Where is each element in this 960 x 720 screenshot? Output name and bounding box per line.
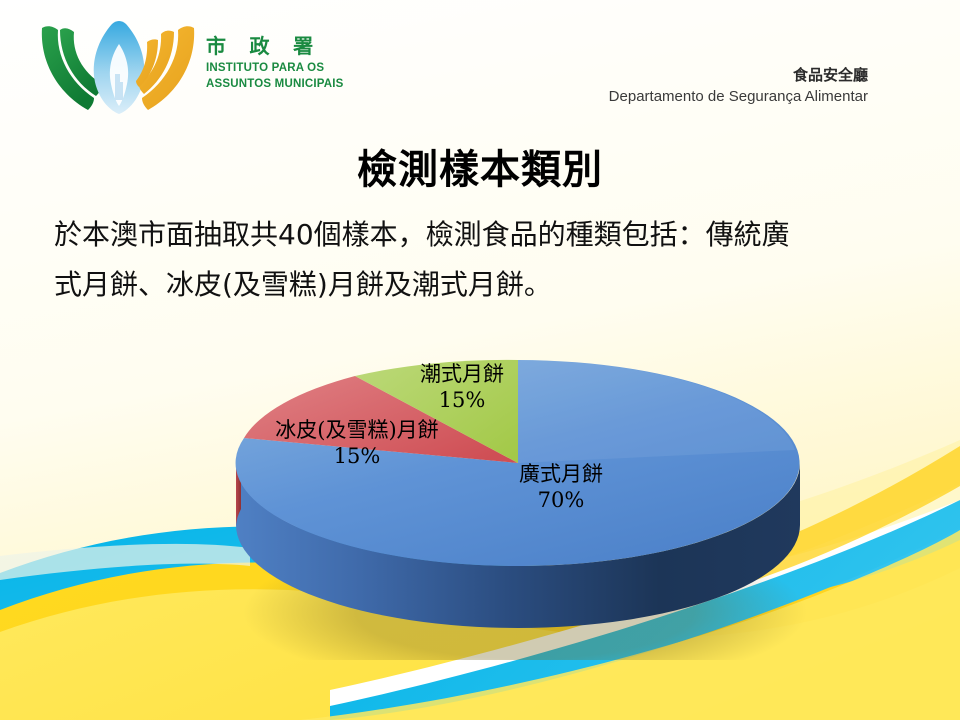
department-name-portuguese: Departamento de Segurança Alimentar (609, 87, 868, 107)
pie-label-blue: 廣式月餅 70% (466, 462, 656, 513)
pie-label-green-value: 15% (388, 388, 536, 414)
slide-header: 市 政 署 INSTITUTO PARA OS ASSUNTOS MUNICIP… (0, 0, 960, 125)
pie-label-green: 潮式月餅 15% (388, 362, 536, 413)
department-title: 食品安全廳 Departamento de Segurança Alimenta… (609, 66, 868, 107)
pie-label-blue-value: 70% (466, 488, 656, 514)
body-line-2: 式月餅、冰皮(及雪糕)月餅及潮式月餅。 (54, 260, 912, 310)
pie-label-red-name: 冰皮(及雪糕)月餅 (275, 418, 438, 442)
body-line-1: 於本澳市面抽取共40個樣本，檢測食品的種類包括：傳統廣 (54, 210, 912, 260)
department-name-chinese: 食品安全廳 (609, 66, 868, 86)
logo-portuguese-line1: INSTITUTO PARA OS (206, 61, 356, 75)
body-paragraph: 於本澳市面抽取共40個樣本，檢測食品的種類包括：傳統廣 式月餅、冰皮(及雪糕)月… (54, 210, 912, 310)
institution-logo: 市 政 署 INSTITUTO PARA OS ASSUNTOS MUNICIP… (34, 14, 344, 119)
pie-chart: 潮式月餅 15% 冰皮(及雪糕)月餅 15% 廣式月餅 70% (0, 330, 960, 660)
logo-chinese-name: 市 政 署 (206, 36, 356, 59)
pie-label-red-value: 15% (252, 444, 462, 470)
iam-logo-icon (34, 14, 204, 119)
slide-canvas: 市 政 署 INSTITUTO PARA OS ASSUNTOS MUNICIP… (0, 0, 960, 720)
logo-wordmark: 市 政 署 INSTITUTO PARA OS ASSUNTOS MUNICIP… (206, 36, 356, 92)
pie-label-green-name: 潮式月餅 (420, 362, 504, 386)
pie-label-red: 冰皮(及雪糕)月餅 15% (252, 418, 462, 469)
logo-portuguese-line2: ASSUNTOS MUNICIPAIS (206, 77, 356, 91)
page-title: 檢測樣本類別 (0, 137, 960, 195)
pie-label-blue-name: 廣式月餅 (519, 462, 603, 486)
